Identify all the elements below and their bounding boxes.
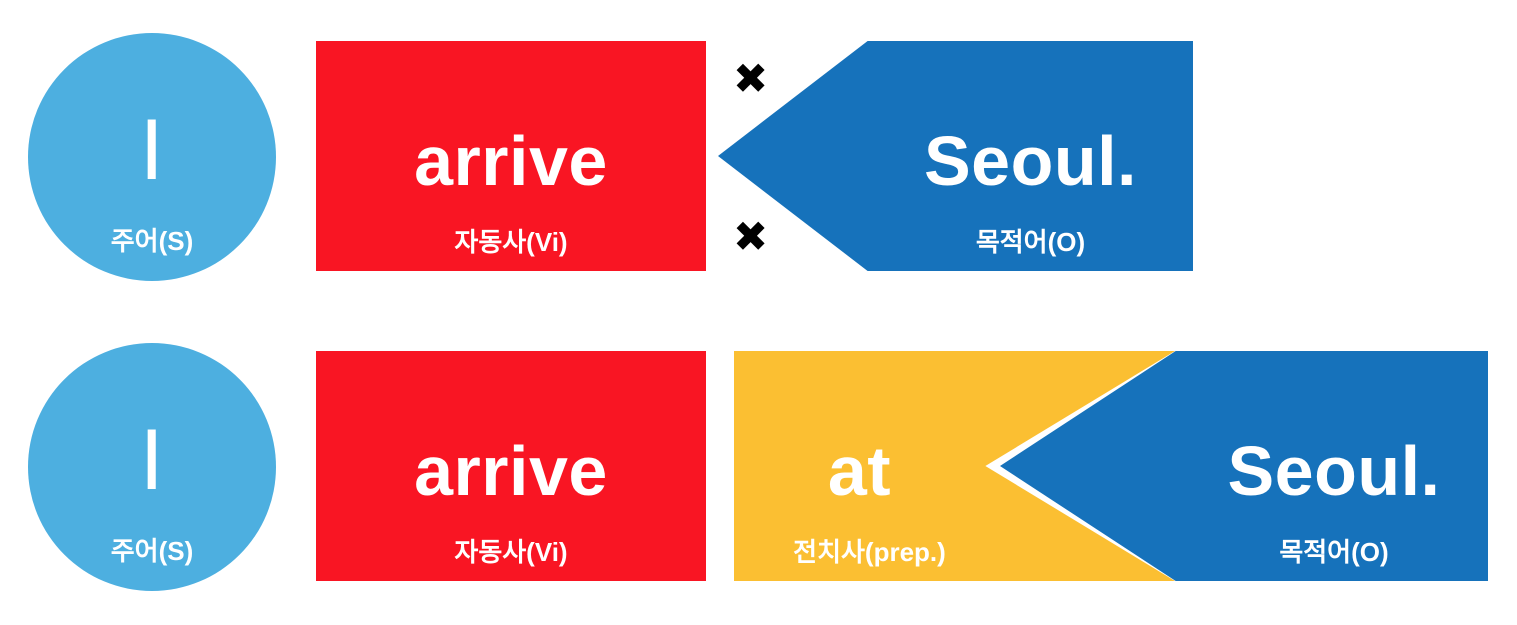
row2-subject-word: I (28, 417, 276, 503)
row1-verb-role: 자동사(Vi) (316, 229, 706, 255)
row1-subject-circle: I 주어(S) (28, 33, 276, 281)
row1-object-word: Seoul. (868, 126, 1193, 196)
row2-preposition-role: 전치사(prep.) (734, 539, 1005, 565)
row1-subject-word: I (28, 107, 276, 193)
diagram-canvas: I 주어(S) arrive 자동사(Vi) ✖ ✖ Seoul. 목적어(O)… (0, 0, 1517, 625)
row2-verb-word: arrive (316, 436, 706, 506)
row1-object-role: 목적어(O) (868, 229, 1193, 255)
row2-subject-circle: I 주어(S) (28, 343, 276, 591)
x-mark-top-icon: ✖ (733, 58, 768, 100)
row1-object-chevron: Seoul. 목적어(O) (718, 41, 1193, 271)
row2-subject-role: 주어(S) (28, 538, 276, 564)
row2-preposition-word: at (734, 436, 985, 506)
row1-verb-box: arrive 자동사(Vi) (316, 41, 706, 271)
row1-verb-word: arrive (316, 126, 706, 196)
x-mark-bottom-icon: ✖ (733, 216, 768, 258)
row2-verb-role: 자동사(Vi) (316, 539, 706, 565)
row2-object-word: Seoul. (1180, 436, 1488, 506)
row2-verb-box: arrive 자동사(Vi) (316, 351, 706, 581)
row1-subject-role: 주어(S) (28, 228, 276, 254)
row2-object-role: 목적어(O) (1180, 539, 1488, 565)
